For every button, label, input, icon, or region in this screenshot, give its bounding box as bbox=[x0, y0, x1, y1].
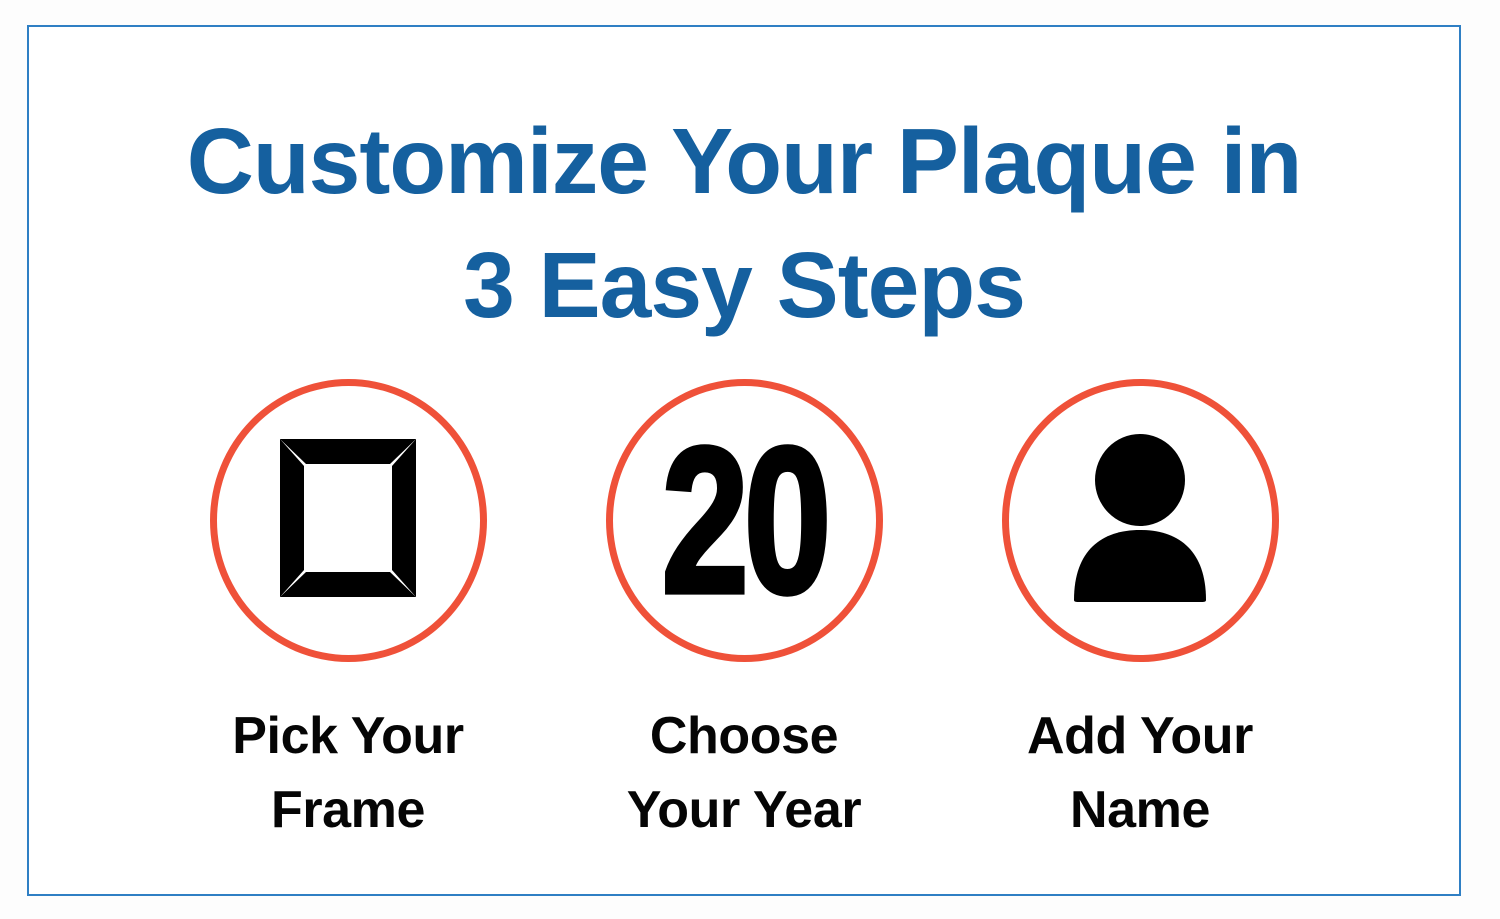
page-title-line-1: Customize Your Plaque in bbox=[29, 99, 1459, 223]
step-1-circle bbox=[210, 379, 487, 662]
steps-row: Pick Your Frame 20 Choose Your Year bbox=[29, 379, 1459, 847]
step-pick-your-frame[interactable]: Pick Your Frame bbox=[150, 379, 546, 847]
step-3-circle bbox=[1002, 379, 1279, 662]
page-title: Customize Your Plaque in 3 Easy Steps bbox=[29, 99, 1459, 347]
step-2-caption: Choose Your Year bbox=[627, 699, 861, 847]
step-2-circle: 20 bbox=[606, 379, 883, 662]
step-1-caption: Pick Your Frame bbox=[232, 699, 463, 847]
step-3-caption: Add Your Name bbox=[1027, 699, 1253, 847]
step-choose-your-year[interactable]: 20 Choose Your Year bbox=[546, 379, 942, 847]
year-20-icon: 20 bbox=[662, 444, 827, 597]
person-icon bbox=[1070, 434, 1210, 607]
step-add-your-name[interactable]: Add Your Name bbox=[942, 379, 1338, 847]
promo-card: Customize Your Plaque in 3 Easy Steps bbox=[27, 25, 1461, 896]
picture-frame-icon bbox=[278, 437, 418, 604]
page-title-line-2: 3 Easy Steps bbox=[29, 223, 1459, 347]
